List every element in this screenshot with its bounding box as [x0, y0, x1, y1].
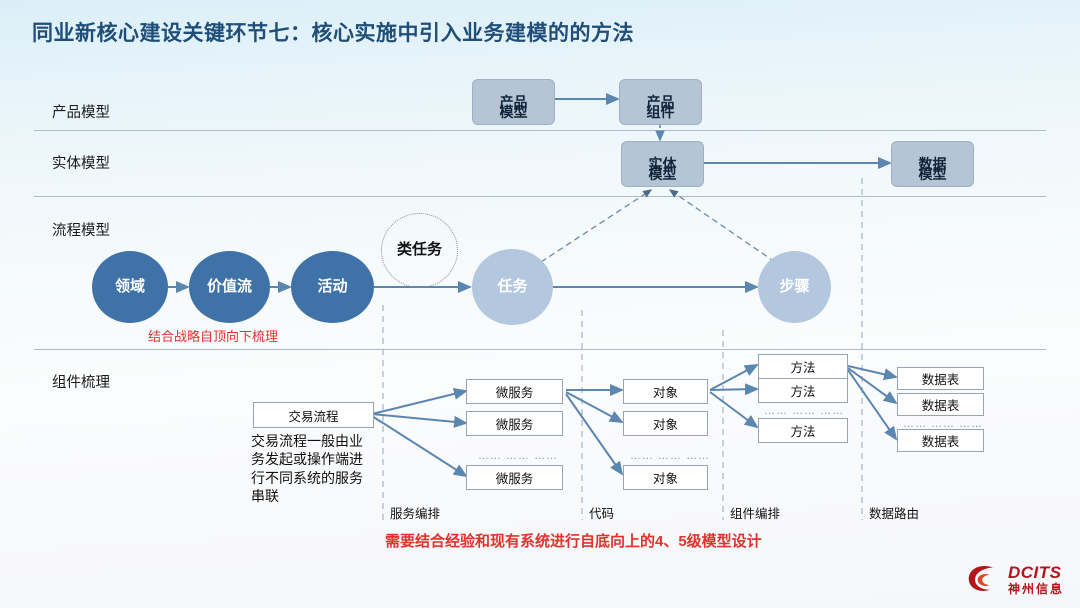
box-data-model-line2: 模型	[919, 166, 947, 182]
note-top-down: 结合战略自顶向下梳理	[148, 326, 278, 345]
row-divider-3	[34, 349, 1046, 350]
box-data-model[interactable]: 数据 模型	[891, 141, 974, 187]
column-label-service-orchestration: 服务编排	[390, 503, 440, 522]
row-label-component-sorting: 组件梳理	[52, 371, 110, 392]
row-divider-1	[34, 130, 1046, 131]
box-product-component[interactable]: 产品 组件	[619, 79, 702, 125]
row-label-product-model: 产品模型	[52, 101, 110, 122]
box-method-3[interactable]: 方法	[758, 418, 848, 443]
circle-step[interactable]: 步骤	[758, 251, 831, 323]
box-method-2[interactable]: 方法	[758, 378, 848, 403]
box-object-2[interactable]: 对象	[623, 411, 708, 436]
page-title: 同业新核心建设关键环节七：核心实施中引入业务建模的的方法	[32, 17, 634, 47]
transaction-flow-description: 交易流程一般由业务发起或操作端进行不同系统的服务串联	[251, 432, 371, 506]
box-transaction-flow[interactable]: 交易流程	[253, 402, 374, 428]
company-logo: DCITS 神州信息	[966, 562, 1064, 596]
box-product-component-line2: 组件	[647, 104, 675, 120]
circle-domain[interactable]: 领域	[92, 251, 168, 323]
logo-text-cn: 神州信息	[1008, 583, 1064, 595]
row-label-entity-model: 实体模型	[52, 152, 110, 173]
column-label-component-orchestration: 组件编排	[730, 503, 780, 522]
circle-class-task[interactable]: 类任务	[381, 213, 458, 288]
slide-canvas: 同业新核心建设关键环节七：核心实施中引入业务建模的的方法 产品模型 实体模型 流…	[0, 0, 1080, 608]
note-bottom-up: 需要结合经验和现有系统进行自底向上的4、5级模型设计	[385, 530, 762, 551]
ellipsis-object: …… …… ……	[630, 450, 710, 462]
column-label-code: 代码	[589, 503, 614, 522]
column-label-data-routing: 数据路由	[869, 503, 919, 522]
circle-task[interactable]: 任务	[472, 249, 553, 325]
row-label-process-model: 流程模型	[52, 219, 110, 240]
box-method-1[interactable]: 方法	[758, 354, 848, 379]
box-data-table-1[interactable]: 数据表	[897, 367, 984, 390]
box-data-table-3[interactable]: 数据表	[897, 429, 984, 452]
ellipsis-method: …… …… ……	[764, 405, 844, 417]
box-object-3[interactable]: 对象	[623, 465, 708, 490]
circle-value-stream[interactable]: 价值流	[189, 251, 270, 323]
row-divider-2	[34, 196, 1046, 197]
box-microservice-3[interactable]: 微服务	[466, 465, 563, 490]
box-entity-model-line2: 模型	[649, 166, 677, 182]
box-microservice-2[interactable]: 微服务	[466, 411, 563, 436]
circle-activity[interactable]: 活动	[291, 251, 374, 323]
box-microservice-1[interactable]: 微服务	[466, 379, 563, 404]
dcits-mark-icon	[966, 562, 1002, 596]
ellipsis-microservice: …… …… ……	[478, 450, 558, 462]
box-entity-model[interactable]: 实体 模型	[621, 141, 704, 187]
logo-text-en: DCITS	[1008, 564, 1064, 581]
box-product-model-line2: 模型	[500, 104, 528, 120]
box-object-1[interactable]: 对象	[623, 379, 708, 404]
box-data-table-2[interactable]: 数据表	[897, 393, 984, 416]
box-product-model[interactable]: 产品 模型	[472, 79, 555, 125]
